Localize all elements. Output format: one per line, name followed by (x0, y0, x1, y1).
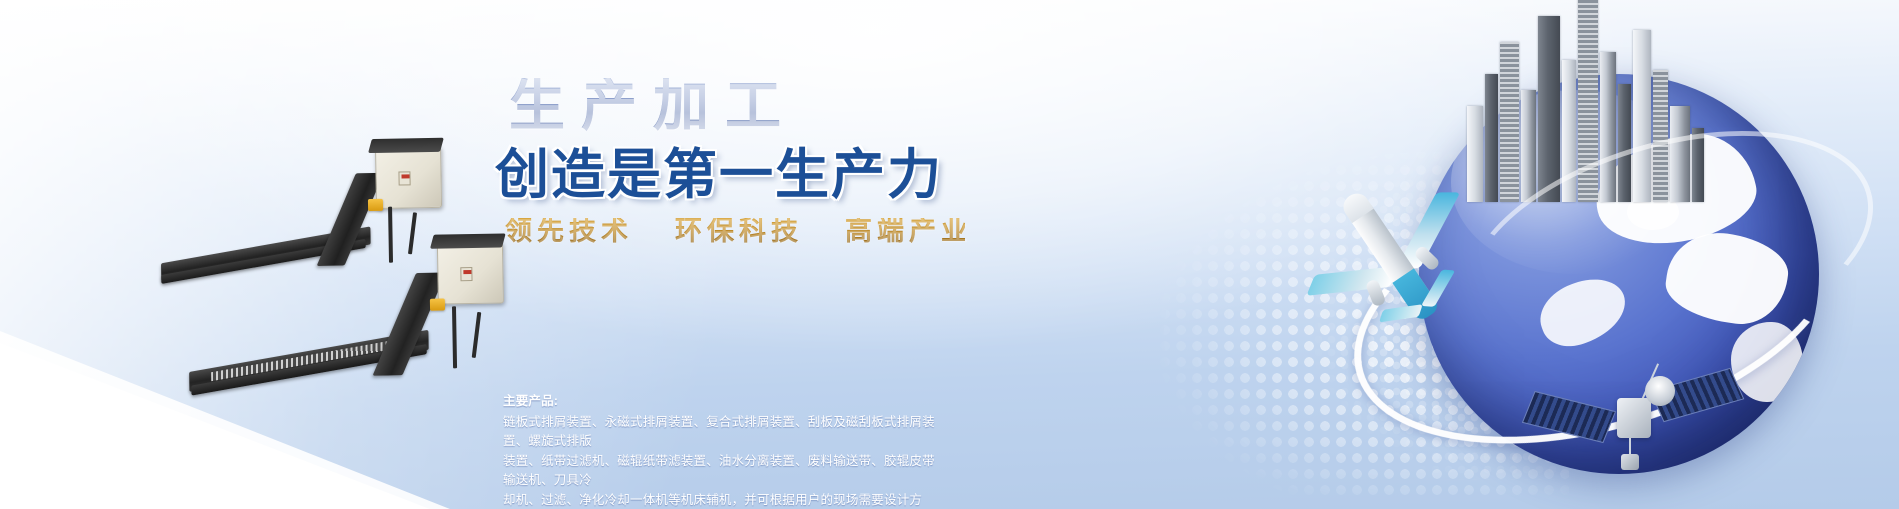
tagline-item-2: 环保科技 (675, 218, 803, 245)
promotional-banner: 生产加工 创造是第一生产力 领先技术 环保科技 高端产业 主要产品: 链板式排屑… (0, 0, 1899, 509)
warning-label-icon (398, 171, 410, 185)
airplane-stabilizer-left (1379, 304, 1423, 322)
satellite-module (1621, 454, 1639, 470)
product-description-line: 却机、过滤、净化冷却一体机等机床辅机，并可根据用户的现场需要设计方案，加工制造，… (503, 491, 943, 509)
satellite-solar-panel (1522, 391, 1616, 443)
skyline-tower (1538, 16, 1560, 202)
headline-group: 生产加工 创造是第一生产力 领先技术 环保科技 高端产业 (495, 78, 965, 245)
skyline-tower (1485, 74, 1498, 202)
product-description: 主要产品: 链板式排屑装置、永磁式排屑装置、复合式排屑装置、刮板及磁刮板式排屑装… (503, 392, 943, 509)
conveyor-head-cap (368, 138, 444, 153)
conveyor-support-leg (472, 312, 482, 358)
conveyor-support-leg (452, 306, 457, 368)
headline-sub: 创造是第一生产力 (495, 148, 965, 202)
conveyor-amber-indicator (368, 199, 383, 211)
product-description-line: 链板式排屑装置、永磁式排屑装置、复合式排屑装置、刮板及磁刮板式排屑装置、螺旋式排… (503, 413, 943, 452)
chip-conveyor-machines (150, 120, 530, 380)
tagline-item-1: 领先技术 (505, 218, 633, 245)
headline-main: 生产加工 (495, 78, 965, 134)
satellite-body (1617, 398, 1651, 438)
warning-label-icon (460, 267, 472, 281)
product-description-title: 主要产品: (503, 392, 943, 412)
conveyor-head-unit (437, 241, 504, 304)
tagline-item-3: 高端产业 (845, 218, 973, 245)
product-description-line: 装置、纸带过滤机、磁辊纸带滤装置、油水分离装置、废料输送带、胶辊皮带输送机、刀具… (503, 452, 943, 491)
satellite-icon (1509, 342, 1749, 502)
tagline-row: 领先技术 环保科技 高端产业 (495, 218, 965, 245)
conveyor-amber-indicator (430, 298, 445, 310)
chip-conveyor-lower (187, 225, 530, 391)
conveyor-belt-incline (372, 272, 446, 375)
skyline-tower (1500, 42, 1519, 202)
conveyor-head-unit (375, 146, 442, 209)
globe-graphic-group (1309, 0, 1869, 509)
skyline-tower (1521, 90, 1536, 202)
